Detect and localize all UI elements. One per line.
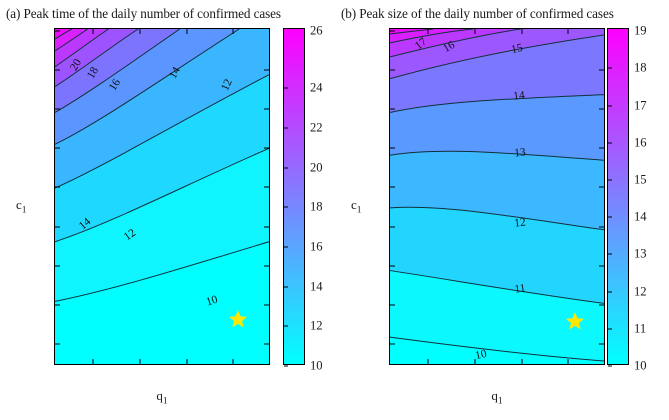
x-tick-label: 0.7: [467, 364, 483, 365]
y-tickmark: [599, 305, 604, 306]
y-tickmark: [264, 148, 269, 149]
x-tickmark: [521, 29, 522, 34]
y-tick-label: 4.5: [389, 180, 390, 195]
y-tickmark: [264, 344, 269, 345]
colorbar-tick-label: 18: [304, 200, 323, 215]
y-axis-label-subscript: 1: [22, 205, 27, 215]
x-tick-label: 0.6: [85, 364, 101, 365]
y-tickmark: [55, 148, 60, 149]
panel-b-title: (b) Peak size of the daily number of con…: [341, 6, 667, 21]
colorbar-tick-label: 26: [304, 24, 323, 39]
colorbar-tick-label: 10: [304, 359, 323, 374]
colorbar-tick-label: 11: [628, 321, 646, 336]
optimal-point-marker: [566, 312, 585, 331]
panel-b-colorbar: 10 11 12 13 14 15 16 17 18 19: [607, 28, 629, 365]
colorbar-tickmark: [284, 286, 288, 287]
colorbar-tick-label: 16: [628, 135, 647, 150]
colorbar-tickmark: [608, 68, 612, 69]
colorbar-tickmark: [284, 167, 288, 168]
colorbar-tickmark: [608, 366, 612, 367]
y-tickmark: [390, 344, 395, 345]
y-tickmark: [390, 30, 395, 31]
x-tick-label: 0.6: [420, 364, 436, 365]
y-tickmark: [599, 344, 604, 345]
contour-label: 11: [514, 282, 527, 295]
panel-a-x-axis-label: q1: [156, 388, 167, 406]
panel-b-y-axis-label: c1: [351, 197, 362, 215]
panel-b: (b) Peak size of the daily number of con…: [335, 0, 669, 420]
y-tickmark: [55, 344, 60, 345]
y-tickmark: [264, 265, 269, 266]
x-tickmark: [186, 29, 187, 34]
y-tick-label: 3: [389, 298, 390, 313]
colorbar-tickmark: [284, 127, 288, 128]
panel-b-axes: 17 16 15 14 13 12 11 10: [389, 28, 605, 365]
y-axis-label-subscript: 1: [357, 205, 362, 215]
contour-label: 15: [510, 42, 524, 56]
panel-a-y-axis-label: c1: [16, 197, 27, 215]
y-tickmark: [599, 187, 604, 188]
colorbar-tickmark: [608, 180, 612, 181]
panel-a-title: (a) Peak time of the daily number of con…: [6, 6, 332, 21]
y-tickmark: [390, 148, 395, 149]
x-tick-label: 0.7: [132, 364, 148, 365]
colorbar-tick-label: 18: [628, 61, 647, 76]
colorbar-tick-label: 13: [628, 247, 647, 262]
colorbar-tickmark: [608, 217, 612, 218]
colorbar-tick-label: 17: [628, 98, 647, 113]
y-tick-label: 3: [54, 298, 55, 313]
y-tickmark: [264, 109, 269, 110]
colorbar-tick-label: 24: [304, 81, 323, 96]
y-tick-label: 4.5: [54, 180, 55, 195]
colorbar-tickmark: [608, 328, 612, 329]
colorbar-tick-label: 20: [304, 160, 323, 175]
y-tick-label: 6.5: [389, 28, 390, 38]
y-tickmark: [55, 30, 60, 31]
contour-label: 10: [474, 348, 488, 362]
y-tickmark: [264, 69, 269, 70]
colorbar-tick-label: 12: [628, 284, 647, 299]
y-tickmark: [390, 265, 395, 266]
y-tickmark: [390, 187, 395, 188]
y-tick-label: 3.5: [54, 258, 55, 273]
optimal-point-marker: [229, 310, 248, 329]
y-tick-label: 4: [54, 219, 55, 234]
y-tick-label: 5.5: [54, 102, 55, 117]
y-tickmark: [599, 109, 604, 110]
y-tickmark: [390, 305, 395, 306]
y-tick-label: 6: [54, 62, 55, 77]
y-tickmark: [390, 69, 395, 70]
panel-a: (a) Peak time of the daily number of con…: [0, 0, 334, 420]
colorbar-tickmark: [284, 326, 288, 327]
y-tickmark: [390, 109, 395, 110]
colorbar-tick-label: 22: [304, 120, 323, 135]
panel-b-x-axis-label: q1: [491, 388, 502, 406]
x-tick-label: 0.8: [179, 364, 195, 365]
x-tickmark: [92, 29, 93, 34]
y-tickmark: [390, 226, 395, 227]
x-tickmark: [427, 29, 428, 34]
contour-label: 14: [513, 89, 526, 102]
y-tickmark: [55, 69, 60, 70]
y-tick-label: 5.5: [389, 102, 390, 117]
y-tickmark: [55, 109, 60, 110]
y-tick-label: 5: [54, 141, 55, 156]
y-tickmark: [55, 265, 60, 266]
y-tick-label: 6.5: [54, 28, 55, 38]
colorbar-tick-label: 16: [304, 239, 323, 254]
colorbar-tickmark: [284, 88, 288, 89]
x-axis-label-subscript: 1: [498, 396, 503, 406]
y-tick-label: 2.5: [389, 337, 390, 352]
colorbar-tick-label: 19: [628, 24, 647, 39]
y-tickmark: [599, 69, 604, 70]
colorbar-tickmark: [284, 246, 288, 247]
x-tick-label: 0.8: [514, 364, 530, 365]
y-tickmark: [264, 226, 269, 227]
x-tickmark: [139, 29, 140, 34]
y-tick-label: 2.5: [54, 337, 55, 352]
colorbar-tick-label: 15: [628, 173, 647, 188]
y-tick-label: 3.5: [389, 258, 390, 273]
colorbar-tick-label: 14: [304, 279, 323, 294]
y-tick-label: 6: [389, 62, 390, 77]
y-tickmark: [55, 187, 60, 188]
colorbar-tick-label: 12: [304, 319, 323, 334]
colorbar-tickmark: [284, 366, 288, 367]
x-tick-label: 0.9: [226, 364, 242, 365]
colorbar-tickmark: [608, 254, 612, 255]
x-tickmark: [568, 29, 569, 34]
colorbar-tick-label: 10: [628, 359, 647, 374]
panel-a-colorbar: 10 12 14 16 18 20 22 24 26: [283, 28, 305, 365]
x-tickmark: [233, 29, 234, 34]
y-tickmark: [55, 226, 60, 227]
y-tickmark: [264, 187, 269, 188]
colorbar-tickmark: [284, 207, 288, 208]
panel-a-axes: 20 18 16 14 12 14 12 10: [54, 28, 270, 365]
y-tickmark: [599, 226, 604, 227]
y-tickmark: [264, 305, 269, 306]
x-axis-label-subscript: 1: [163, 396, 168, 406]
y-tickmark: [599, 148, 604, 149]
colorbar-tickmark: [608, 142, 612, 143]
colorbar-tickmark: [608, 105, 612, 106]
y-tickmark: [599, 265, 604, 266]
colorbar-tick-label: 14: [628, 210, 647, 225]
y-tickmark: [55, 305, 60, 306]
contour-label: 12: [514, 216, 527, 229]
colorbar-tickmark: [608, 291, 612, 292]
contour-label: 13: [514, 147, 526, 160]
y-tick-label: 5: [389, 141, 390, 156]
y-tick-label: 4: [389, 219, 390, 234]
x-tickmark: [474, 29, 475, 34]
x-tick-label: 0.9: [561, 364, 577, 365]
